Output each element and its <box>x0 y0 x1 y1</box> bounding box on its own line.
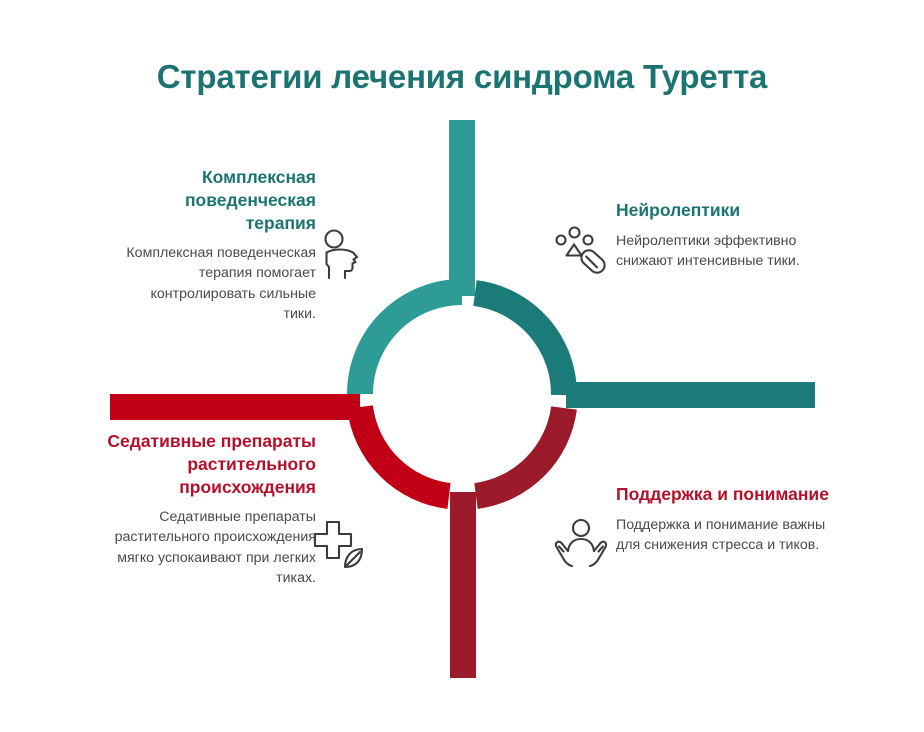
hands-supporting-person-icon <box>552 516 610 574</box>
section-neuroleptics-body: Нейролептики эффективно снижают интенсив… <box>616 231 826 271</box>
arc-top-left <box>360 292 462 394</box>
arc-top-right <box>475 293 564 395</box>
section-herbal-heading: Седативные препараты растительного проис… <box>106 430 316 498</box>
section-herbal-body: Седативные препараты растительного проис… <box>106 507 316 588</box>
section-cbt-heading: Комплексная поведенческая терапия <box>126 166 316 234</box>
section-support: Поддержка и понимание Поддержка и понима… <box>616 483 836 555</box>
arc-bottom-left <box>360 407 449 496</box>
arc-bottom-right <box>476 408 564 496</box>
infographic-canvas: Стратегии лечения синдрома Туретта <box>0 0 924 732</box>
section-neuroleptics-heading: Нейролептики <box>616 199 826 222</box>
page-title: Стратегии лечения синдрома Туретта <box>0 58 924 96</box>
stem-down <box>450 492 476 678</box>
stem-left <box>110 394 360 420</box>
section-neuroleptics: Нейролептики Нейролептики эффективно сни… <box>616 199 826 271</box>
section-cbt-body: Комплексная поведенческая терапия помога… <box>126 243 316 324</box>
person-open-head-icon <box>312 226 370 284</box>
stem-right <box>566 382 815 408</box>
stem-up <box>449 120 475 296</box>
section-herbal: Седативные препараты растительного проис… <box>106 430 316 588</box>
section-cbt: Комплексная поведенческая терапия Компле… <box>126 166 316 324</box>
section-support-body: Поддержка и понимание важны для снижения… <box>616 515 836 555</box>
medical-cross-leaf-icon <box>310 516 368 574</box>
pills-capsule-icon <box>552 224 610 282</box>
central-ring-diagram <box>0 0 924 732</box>
section-support-heading: Поддержка и понимание <box>616 483 836 506</box>
